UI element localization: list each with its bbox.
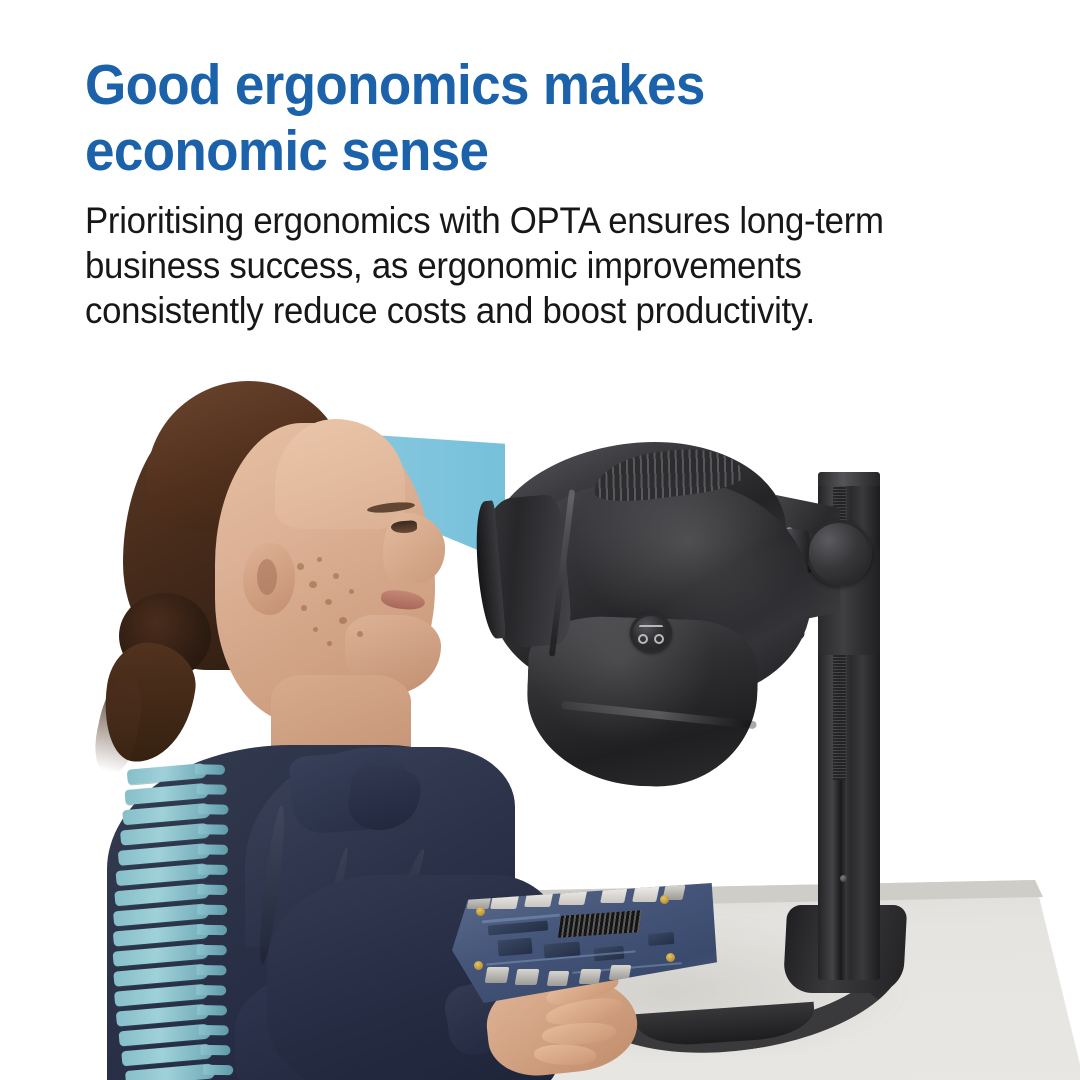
operator-figure <box>95 375 515 1080</box>
ear <box>243 543 295 615</box>
spine-overlay-graphic <box>87 762 245 1080</box>
freckles <box>291 555 411 651</box>
product-photo <box>0 355 1080 1080</box>
scope-control-button <box>630 613 672 653</box>
text-block: Good ergonomics makes economic sense Pri… <box>85 52 1015 333</box>
microscope-head <box>475 443 845 773</box>
illumination-icon <box>639 625 663 641</box>
page-title: Good ergonomics makes economic sense <box>85 52 950 184</box>
page-subtitle: Prioritising ergonomics with OPTA ensure… <box>85 198 959 333</box>
column-screw <box>840 875 847 882</box>
poster-canvas: Good ergonomics makes economic sense Pri… <box>0 0 1080 1080</box>
